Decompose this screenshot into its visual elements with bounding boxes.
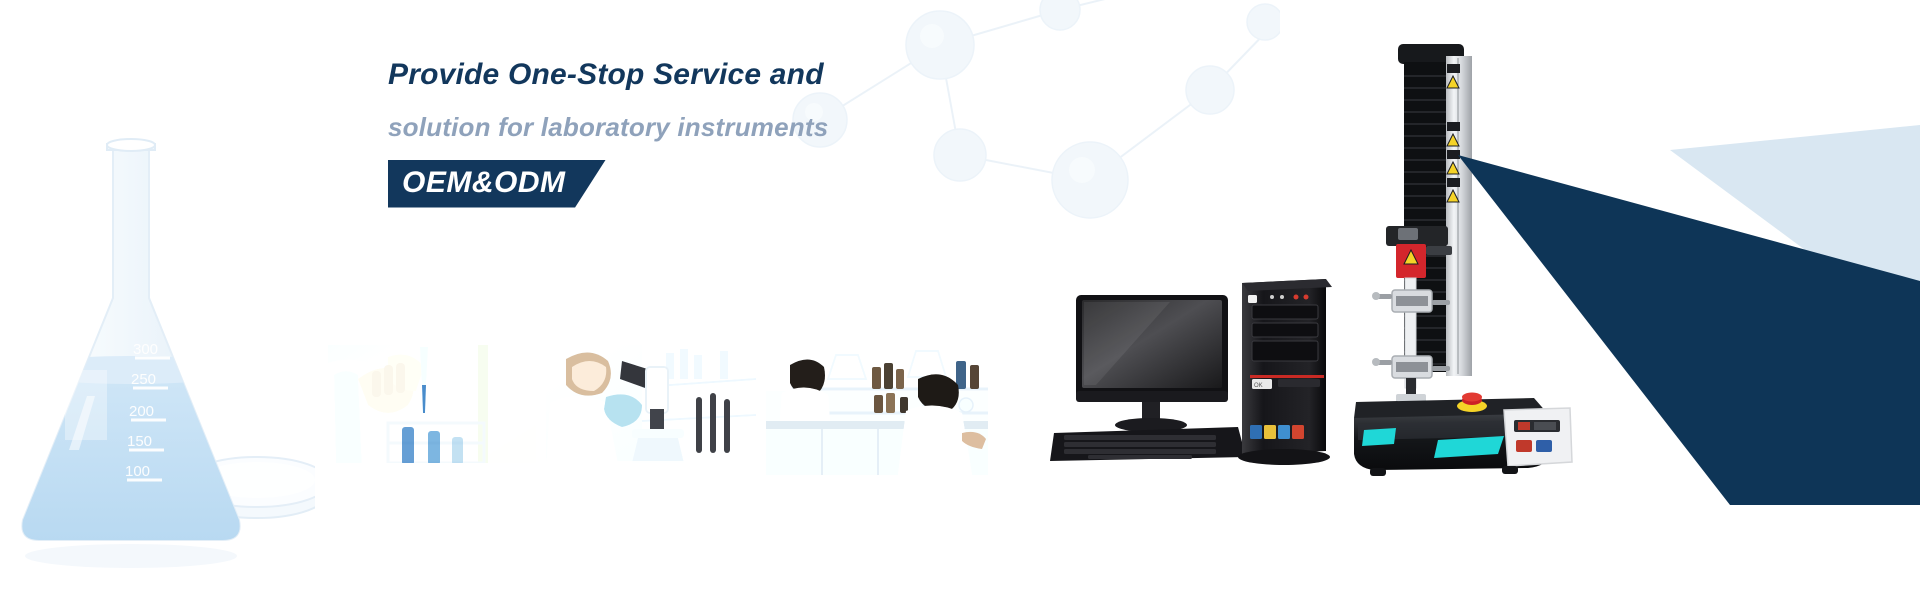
petri-dish <box>185 457 315 518</box>
photo-laboratory-workbench <box>766 345 988 475</box>
base <box>1354 393 1572 477</box>
tower: OK <box>1238 279 1332 465</box>
warning-label <box>1447 64 1460 202</box>
control-panel <box>1504 408 1572 466</box>
emergency-stop-button <box>1457 393 1487 413</box>
headline-secondary: solution for laboratory instruments <box>388 114 1028 140</box>
corner-arrow-graphics <box>1430 85 1920 505</box>
oem-odm-badge: OEM&ODM <box>388 160 606 208</box>
upper-grip <box>1372 290 1450 312</box>
column <box>1404 56 1472 376</box>
photo-strip <box>328 345 988 475</box>
universal-tensile-testing-machine <box>1352 22 1592 482</box>
photo-microscope-analysis <box>546 345 756 475</box>
svg-text:250: 250 <box>131 371 156 388</box>
headline-primary: Provide One-Stop Service and <box>388 60 1028 90</box>
headline-block: Provide One-Stop Service and solution fo… <box>388 60 1028 208</box>
crosshead <box>1386 226 1452 278</box>
svg-text:100: 100 <box>125 463 150 480</box>
keyboard <box>1050 427 1246 461</box>
erlenmeyer-flask: 300 250 200 150 100 <box>0 120 315 580</box>
hero-banner: 300 250 200 150 100 Provide One-Stop Ser… <box>0 0 1920 597</box>
arrow-shape-light <box>1670 125 1920 335</box>
svg-text:150: 150 <box>127 433 152 450</box>
svg-text:300: 300 <box>133 341 158 358</box>
lower-grip <box>1372 356 1450 404</box>
photo-pipetting-test-tubes <box>328 345 536 475</box>
arrow-shape-dark <box>1458 155 1920 505</box>
column-cap <box>1398 44 1464 64</box>
desktop-computer: OK <box>1050 275 1350 475</box>
svg-text:200: 200 <box>129 403 154 420</box>
monitor <box>1076 295 1228 432</box>
svg-text:OK: OK <box>1254 383 1263 389</box>
